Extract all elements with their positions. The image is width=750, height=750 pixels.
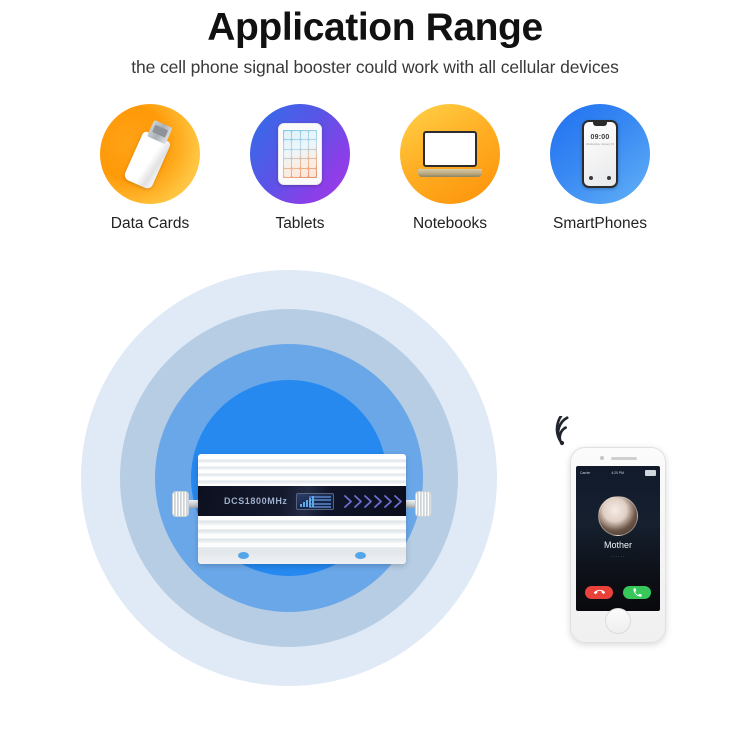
- category-item-notebooks[interactable]: Notebooks: [398, 104, 502, 233]
- smartphone-flashlight-icon: [589, 176, 593, 180]
- page-subtitle: the cell phone signal booster could work…: [0, 51, 750, 78]
- battery-icon: [645, 470, 656, 476]
- phone-down-icon: [594, 587, 605, 598]
- category-label-tablets: Tablets: [275, 215, 324, 233]
- caller-subtext: ......: [576, 553, 660, 559]
- laptop-icon: [418, 131, 482, 177]
- booster-frequency-label: DCS1800MHz: [224, 496, 288, 506]
- booster-chassis: DCS1800MHz: [198, 454, 406, 564]
- caller-avatar: [598, 496, 638, 536]
- ios-status-bar: Carrier 4:20 PM: [576, 469, 660, 476]
- laptop-screen: [423, 131, 477, 167]
- category-item-smartphones[interactable]: 09:00 Wednesday, January 15 SmartPhones: [548, 104, 652, 233]
- phone-top-hardware: [571, 456, 665, 460]
- mounting-screw-right: [355, 552, 366, 559]
- smartphones-circle: 09:00 Wednesday, January 15: [550, 104, 650, 204]
- usb-data-card-icon: [123, 118, 177, 190]
- call-action-buttons: [576, 586, 660, 599]
- signal-strength-lcd: [296, 493, 334, 510]
- status-carrier: Carrier: [580, 471, 590, 475]
- tablet-screen: [283, 130, 317, 178]
- tablets-circle: [250, 104, 350, 204]
- decline-call-button[interactable]: [585, 586, 613, 599]
- smartphone-icon: 09:00 Wednesday, January 15: [582, 120, 618, 188]
- home-button[interactable]: [605, 608, 631, 634]
- mounting-screw-left: [238, 552, 249, 559]
- incoming-call-phone: Carrier 4:20 PM Mother ......: [570, 447, 666, 643]
- chevron-right-icon-group: [344, 494, 406, 509]
- smartphone-date: Wednesday, January 15: [584, 143, 616, 146]
- category-label-smartphones: SmartPhones: [553, 215, 647, 233]
- booster-front-panel: DCS1800MHz: [198, 486, 406, 516]
- category-item-tablets[interactable]: Tablets: [248, 104, 352, 233]
- call-screen: Carrier 4:20 PM Mother ......: [576, 466, 660, 611]
- lcd-signal-bars: [300, 496, 314, 507]
- page-header: Application Range the cell phone signal …: [0, 0, 750, 78]
- page-title: Application Range: [0, 0, 750, 51]
- connector-knurl-right: [415, 491, 432, 517]
- category-label-notebooks: Notebooks: [413, 215, 487, 233]
- front-camera-icon: [600, 456, 604, 460]
- data-cards-circle: [100, 104, 200, 204]
- caller-name: Mother: [576, 540, 660, 550]
- wifi-signal-arc-icon: [550, 416, 588, 450]
- earpiece-speaker: [611, 457, 637, 460]
- connector-knurl-left: [172, 491, 189, 517]
- category-item-data-cards[interactable]: Data Cards: [98, 104, 202, 233]
- status-time: 4:20 PM: [611, 471, 624, 475]
- smartphone-clock: 09:00: [584, 134, 616, 141]
- wifi-dot: [560, 441, 564, 445]
- laptop-base: [418, 169, 482, 177]
- category-label-data-cards: Data Cards: [111, 215, 189, 233]
- smartphone-notch: [593, 122, 607, 126]
- heatsink-fins-top: [198, 456, 406, 486]
- smartphone-screen: 09:00 Wednesday, January 15: [584, 122, 616, 186]
- heatsink-fins-bottom: [198, 516, 406, 550]
- antenna-connector-right: [402, 491, 432, 517]
- signal-direction-arrows: [344, 494, 406, 509]
- device-category-row: Data Cards Tablets Notebooks: [0, 104, 750, 233]
- accept-call-button[interactable]: [623, 586, 651, 599]
- tablet-icon: [278, 123, 322, 185]
- signal-booster-device: DCS1800MHz: [172, 454, 432, 564]
- notebooks-circle: [400, 104, 500, 204]
- phone-icon: [632, 587, 643, 598]
- smartphone-camera-icon: [607, 176, 611, 180]
